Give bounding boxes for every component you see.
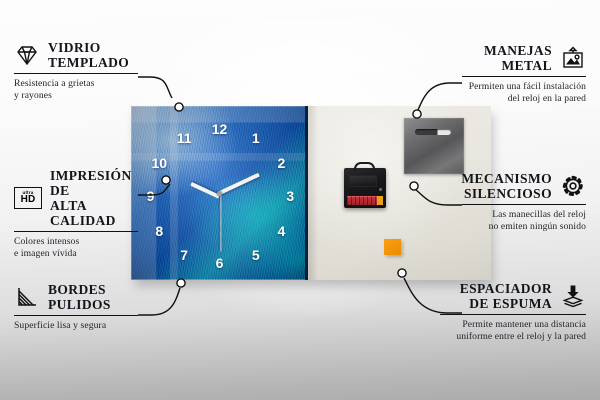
feature-title-line2: METAL <box>501 58 552 73</box>
feature-divider <box>14 73 138 74</box>
feature-desc-line2: no emiten ningún sonido <box>489 221 586 232</box>
product-photo: 12 1 2 3 4 5 6 7 8 9 10 11 <box>131 106 491 280</box>
feature-desc-line1: Permite mantener una distancia <box>462 319 586 330</box>
feature-espaciador-de-espuma[interactable]: ESPACIADOR DE ESPUMA Permite mantener un… <box>440 281 586 342</box>
feature-title-line2: TEMPLADO <box>48 55 129 70</box>
feature-divider <box>440 314 586 315</box>
feature-manejas-metal[interactable]: MANEJAS METAL Permiten una fácil instala… <box>462 43 586 104</box>
feature-desc-line2: y rayones <box>14 90 52 101</box>
feature-desc-line2: uniforme entre el reloj y la pared <box>456 331 586 342</box>
aa-battery <box>347 196 383 205</box>
clock-front-face: 12 1 2 3 4 5 6 7 8 9 10 11 <box>131 106 308 280</box>
infographic-canvas: 12 1 2 3 4 5 6 7 8 9 10 11 <box>0 0 600 400</box>
foam-spacer-square <box>384 239 401 255</box>
wall-hanging-frame-icon <box>560 46 586 70</box>
feature-title-line2: SILENCIOSO <box>464 186 552 201</box>
feature-desc-line2: e imagen vívida <box>14 248 77 259</box>
feature-divider <box>14 315 138 316</box>
metal-hanger-plate <box>404 118 464 174</box>
hanger-slot <box>415 129 451 135</box>
feature-impresion-alta-calidad[interactable]: ultra HD IMPRESIÓN DE ALTA CALIDAD Color… <box>14 168 138 259</box>
feature-title-line1: BORDES <box>48 282 106 297</box>
feature-title-line1: ESPACIADOR <box>460 281 552 296</box>
feature-desc-line1: Permiten una fácil instalación <box>469 81 586 92</box>
feature-bordes-pulidos[interactable]: BORDES PULIDOS Superficie lisa y segura <box>14 282 138 332</box>
feature-divider <box>462 204 586 205</box>
diamond-icon <box>14 43 40 67</box>
feature-desc-line1: Colores intensos <box>14 236 79 247</box>
feature-vidrio-templado[interactable]: VIDRIO TEMPLADO Resistencia a grietas y … <box>14 40 138 101</box>
polished-edge-lines-icon <box>14 285 40 309</box>
gear-icon <box>560 174 586 198</box>
feature-title-line2: PULIDOS <box>48 297 111 312</box>
feature-mecanismo-silencioso[interactable]: MECANISMO SILENCIOSO Las manecillas del … <box>462 171 586 232</box>
glass-edge-highlight <box>131 106 308 280</box>
feature-divider <box>462 76 586 77</box>
mechanism-housing-detail <box>349 175 377 187</box>
feature-title-line1: MECANISMO <box>461 171 552 186</box>
feature-desc-line1: Las manecillas del reloj <box>492 209 586 220</box>
feature-desc-line2: del reloj en la pared <box>508 93 586 104</box>
feature-title-line2: ALTA CALIDAD <box>50 198 116 228</box>
silent-clock-mechanism <box>344 168 386 208</box>
feature-desc-line1: Resistencia a grietas <box>14 78 94 89</box>
mechanism-hanging-loop <box>354 162 375 171</box>
mechanism-screw <box>379 188 382 191</box>
ultra-hd-badge-icon: ultra HD <box>14 187 42 209</box>
feature-title-line1: IMPRESIÓN DE <box>50 168 132 198</box>
feature-title-line2: DE ESPUMA <box>469 296 552 311</box>
feature-title-line1: MANEJAS <box>484 43 552 58</box>
feature-divider <box>14 231 138 232</box>
badge-hd-label: HD <box>21 195 36 205</box>
feature-title-line1: VIDRIO <box>48 40 101 55</box>
feature-desc-line1: Superficie lisa y segura <box>14 320 106 331</box>
arrow-onto-layers-icon <box>560 284 586 308</box>
